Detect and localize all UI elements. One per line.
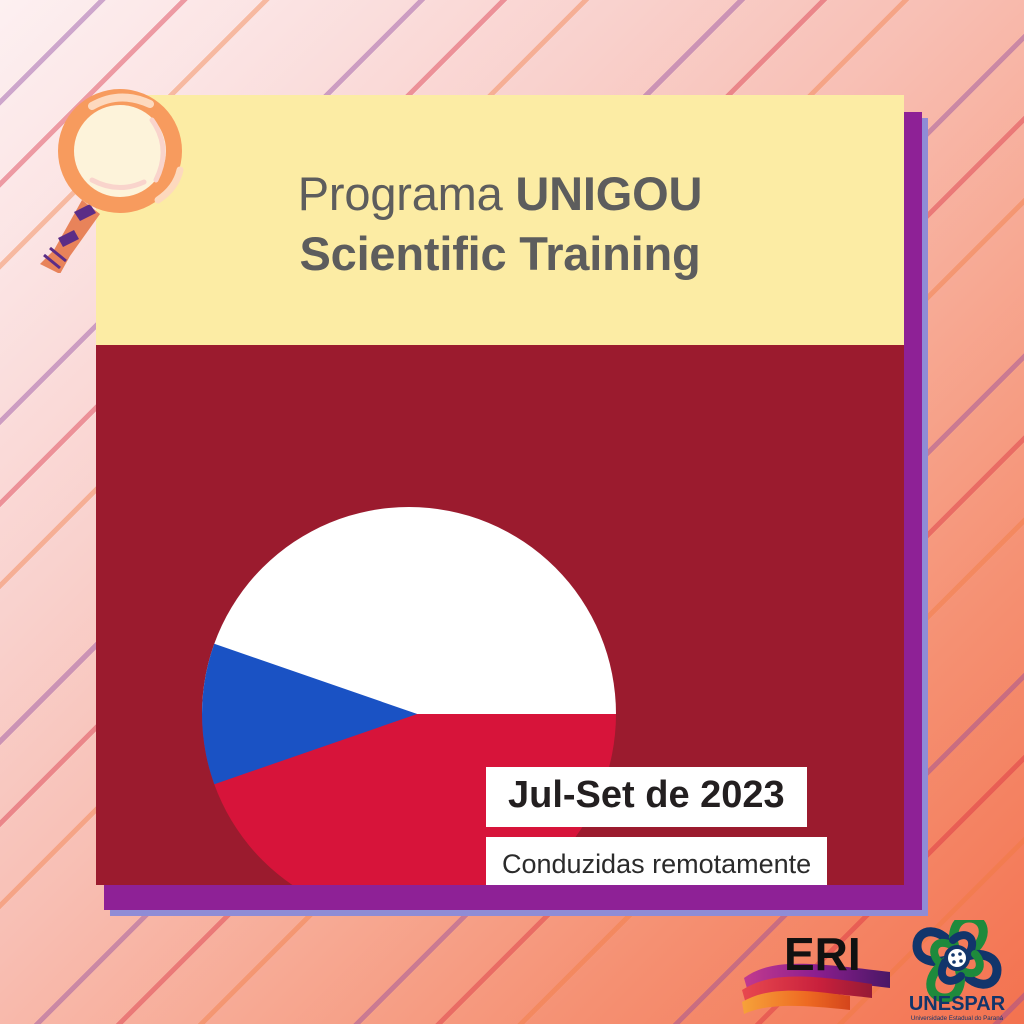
card-body: Jul-Set de 2023 Conduzidas remotamente e… — [96, 345, 904, 885]
czech-flag-circle-icon — [202, 507, 616, 885]
delivery-note-box: Conduzidas remotamente e com ferramentas… — [486, 837, 827, 885]
footer-logos: ERI UNESP — [742, 920, 1024, 1024]
poster-canvas: Programa UNIGOU Scientific Training Jul-… — [0, 0, 1024, 1024]
page-title-line-2: Scientific Training — [299, 224, 700, 284]
delivery-note-line-2: e com ferramentas online — [502, 883, 811, 885]
page-title-line-1: Programa UNIGOU — [298, 164, 702, 224]
title-word-unigou: UNIGOU — [515, 167, 702, 220]
delivery-note-line-1: Conduzidas remotamente — [502, 845, 811, 883]
eri-logo: ERI — [742, 922, 892, 1014]
announcement-card: Programa UNIGOU Scientific Training Jul-… — [96, 95, 904, 885]
unespar-logo-tagline: Universidade Estadual do Paraná — [911, 1015, 1004, 1022]
unespar-logo-text: UNESPAR — [909, 993, 1006, 1015]
eri-logo-text: ERI — [784, 928, 861, 980]
title-word-programa: Programa — [298, 167, 516, 220]
date-badge: Jul-Set de 2023 — [486, 767, 807, 827]
card-header: Programa UNIGOU Scientific Training — [96, 95, 904, 345]
unespar-logo: UNESPAR Universidade Estadual do Paraná — [902, 920, 1012, 1024]
